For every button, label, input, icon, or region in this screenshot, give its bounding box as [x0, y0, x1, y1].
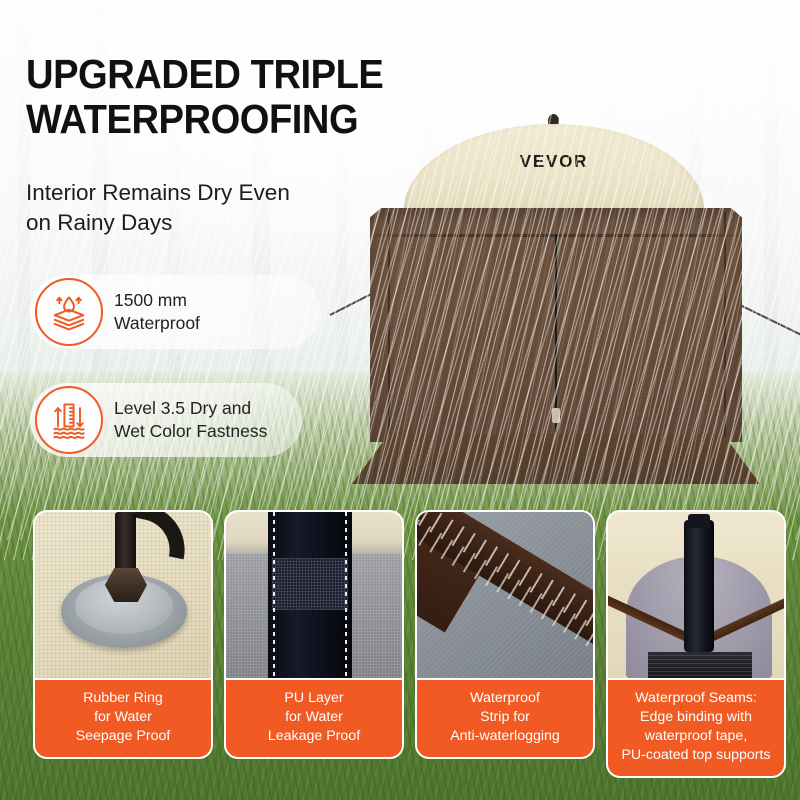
- rubber-ring-bolt-photo: [33, 510, 213, 678]
- center-pole-hub: [684, 520, 714, 652]
- stitch-line-right: [345, 512, 347, 678]
- hub-cap: [688, 514, 710, 528]
- waterproof-strip-photo: [415, 510, 595, 678]
- product-marketing-poster: VEVOR UPGRADED TRIPLE WATERPROOFING Inte…: [0, 0, 800, 800]
- stitch-line-left: [273, 512, 275, 678]
- ceiling-vent-mesh: [648, 652, 752, 678]
- velcro-patch: [272, 558, 348, 610]
- panel-caption: Waterproof Strip for Anti-waterlogging: [415, 678, 595, 759]
- pu-layer-strip-photo: [224, 510, 404, 678]
- panel-caption: Waterproof Seams: Edge binding with wate…: [606, 678, 786, 778]
- tent-pole: [115, 512, 136, 574]
- waterproof-seams-photo: [606, 510, 786, 678]
- detail-panels: Rubber Ring for Water Seepage Proof PU L…: [0, 0, 800, 800]
- panel-caption: PU Layer for Water Leakage Proof: [224, 678, 404, 759]
- panel-caption: Rubber Ring for Water Seepage Proof: [33, 678, 213, 759]
